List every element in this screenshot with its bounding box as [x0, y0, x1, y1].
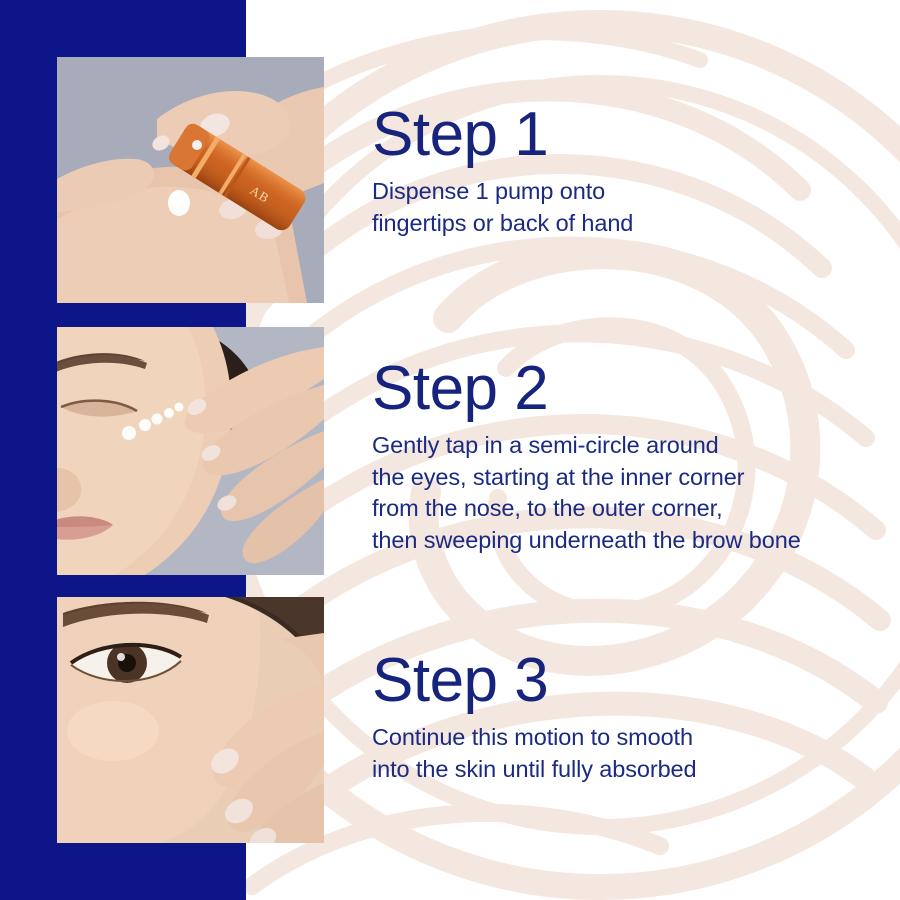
step-2-description-line: then sweeping underneath the brow bone: [372, 525, 801, 557]
step-3-photo: [57, 597, 324, 843]
step-3-block: Step 3 Continue this motion to smooth in…: [372, 650, 697, 785]
step-1-block: Step 1 Dispense 1 pump onto fingertips o…: [372, 104, 633, 239]
step-2-description-line: Gently tap in a semi-circle around: [372, 430, 801, 462]
step-1-photo: AB: [57, 57, 324, 303]
step-3-description-line: into the skin until fully absorbed: [372, 754, 697, 786]
step-2-description-line: the eyes, starting at the inner corner: [372, 462, 801, 494]
step-1-description-line: Dispense 1 pump onto: [372, 176, 633, 208]
step-3-description: Continue this motion to smooth into the …: [372, 722, 697, 785]
step-1-heading: Step 1: [372, 104, 633, 166]
step-3-description-line: Continue this motion to smooth: [372, 722, 697, 754]
step-2-heading: Step 2: [372, 358, 801, 420]
step-2-description: Gently tap in a semi-circle around the e…: [372, 430, 801, 557]
step-2-description-line: from the nose, to the outer corner,: [372, 493, 801, 525]
step-3-heading: Step 3: [372, 650, 697, 712]
instruction-graphic: AB: [0, 0, 900, 900]
step-2-photo-image: [57, 327, 324, 575]
step-3-photo-image: [57, 597, 324, 843]
step-2-block: Step 2 Gently tap in a semi-circle aroun…: [372, 358, 801, 557]
step-2-photo: [57, 327, 324, 575]
step-1-photo-image: AB: [57, 57, 324, 303]
step-1-description: Dispense 1 pump onto fingertips or back …: [372, 176, 633, 239]
step-1-description-line: fingertips or back of hand: [372, 208, 633, 240]
